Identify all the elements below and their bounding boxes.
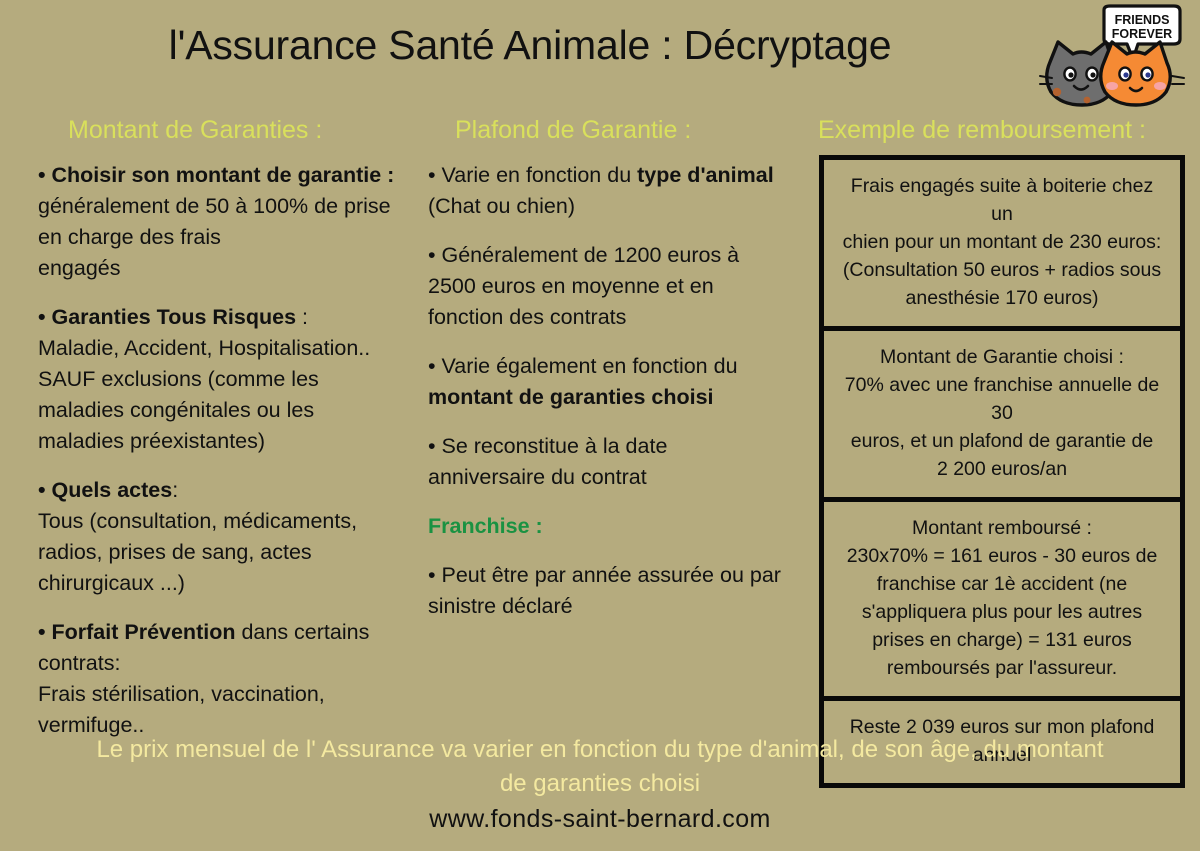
column-montant-garanties: • Choisir son montant de garantie : géné… (38, 160, 420, 741)
bullet-line: Tous (consultation, médicaments, (38, 506, 420, 537)
example-box-line: remboursés par l'assureur. (840, 654, 1164, 682)
bullet-line: anniversaire du contrat (428, 462, 803, 493)
bullet-heading: • Choisir son montant de garantie : (38, 160, 420, 191)
bullet-line: maladies congénitales ou les (38, 395, 420, 426)
example-box-line: chien pour un montant de 230 euros: (840, 228, 1164, 256)
example-box-line: 2 200 euros/an (840, 455, 1164, 483)
bullet-line: Frais stérilisation, vaccination, (38, 679, 420, 710)
bullet-line: maladies préexistantes) (38, 426, 420, 457)
bullet-line: en charge des frais (38, 222, 420, 253)
bullet-heading-bold: • Choisir son montant de garantie : (38, 163, 394, 187)
bullet-line: • Se reconstitue à la date (428, 431, 803, 462)
bullet-heading-bold: • Quels actes (38, 478, 172, 502)
bullet-line: généralement de 50 à 100% de prise (38, 191, 420, 222)
example-box-montant-garantie-choisi: Montant de Garantie choisi : 70% avec un… (824, 331, 1180, 502)
example-box-line: euros, et un plafond de garantie de (840, 427, 1164, 455)
bullet-line: sinistre déclaré (428, 591, 803, 622)
footer-website-url: www.fonds-saint-bernard.com (0, 805, 1200, 834)
page-title: l'Assurance Santé Animale : Décryptage (0, 22, 1060, 69)
bullet-line: (Chat ou chien) (428, 191, 803, 222)
bullet-block: • Forfait Prévention dans certains contr… (38, 617, 420, 741)
example-box-line: franchise car 1è accident (ne (840, 570, 1164, 598)
example-box-line: s'appliquera plus pour les autres (840, 598, 1164, 626)
bullet-line: • Peut être par année assurée ou par (428, 560, 803, 591)
example-box-line: prises en charge) = 131 euros (840, 626, 1164, 654)
footer-note: Le prix mensuel de l' Assurance va varie… (0, 733, 1200, 801)
bullet-line: chirurgicaux ...) (38, 568, 420, 599)
bullet-block: • Varie également en fonction du montant… (428, 351, 803, 413)
bullet-block: • Peut être par année assurée ou par sin… (428, 560, 803, 622)
bullet-heading-bold: • Forfait Prévention (38, 620, 235, 644)
bullet-heading-pre: • Varie en fonction du (428, 163, 637, 187)
example-box-line: Montant de Garantie choisi : (840, 343, 1164, 371)
example-box-line: anesthésie 170 euros) (840, 284, 1164, 312)
bullet-line: fonction des contrats (428, 302, 803, 333)
column-heading-plafond-garantie: Plafond de Garantie : (455, 116, 691, 145)
bullet-line: engagés (38, 253, 420, 284)
cats-logo-icon: FRIENDS FOREVER (1032, 4, 1192, 112)
franchise-subheading-block: Franchise : (428, 511, 803, 542)
footer-note-line-2: de garanties choisi (0, 767, 1200, 801)
friends-forever-cats-logo: FRIENDS FOREVER (1032, 4, 1192, 112)
column-plafond-garantie: • Varie en fonction du type d'animal (Ch… (428, 160, 803, 622)
bullet-line: Maladie, Accident, Hospitalisation.. (38, 333, 420, 364)
bullet-block: • Varie en fonction du type d'animal (Ch… (428, 160, 803, 222)
example-box-line: 230x70% = 161 euros - 30 euros de (840, 542, 1164, 570)
bullet-line: • Varie également en fonction du (428, 351, 803, 382)
bullet-line: 2500 euros en moyenne et en (428, 271, 803, 302)
example-box-line: Montant remboursé : (840, 514, 1164, 542)
bullet-heading: • Garanties Tous Risques : (38, 302, 420, 333)
bullet-line: • Généralement de 1200 euros à (428, 240, 803, 271)
bullet-heading-tail: : (296, 305, 308, 329)
bullet-heading: • Varie en fonction du type d'animal (428, 160, 803, 191)
example-box-frais-engages: Frais engagés suite à boiterie chez un c… (824, 160, 1180, 331)
bullet-block: • Garanties Tous Risques : Maladie, Acci… (38, 302, 420, 457)
bullet-block: • Choisir son montant de garantie : géné… (38, 160, 420, 284)
franchise-subheading: Franchise : (428, 511, 803, 542)
bullet-line: contrats: (38, 648, 420, 679)
example-box-line: 70% avec une franchise annuelle de 30 (840, 371, 1164, 427)
bullet-line-bold: montant de garanties choisi (428, 382, 803, 413)
bubble-line-1: FRIENDS (1115, 13, 1170, 27)
bullet-block: • Quels actes: Tous (consultation, médic… (38, 475, 420, 599)
bullet-heading-tail: : (172, 478, 178, 502)
bullet-line: radios, prises de sang, actes (38, 537, 420, 568)
example-boxes-group: Frais engagés suite à boiterie chez un c… (819, 155, 1185, 788)
bullet-heading-bold: • Garanties Tous Risques (38, 305, 296, 329)
example-box-line: Frais engagés suite à boiterie chez un (840, 172, 1164, 228)
bullet-heading: • Forfait Prévention dans certains (38, 617, 420, 648)
column-heading-montant-garanties: Montant de Garanties : (68, 116, 322, 145)
footer-note-line-1: Le prix mensuel de l' Assurance va varie… (0, 733, 1200, 767)
bullet-heading-bold: type d'animal (637, 163, 774, 187)
example-box-line: (Consultation 50 euros + radios sous (840, 256, 1164, 284)
bullet-block: • Généralement de 1200 euros à 2500 euro… (428, 240, 803, 333)
bullet-block: • Se reconstitue à la date anniversaire … (428, 431, 803, 493)
bullet-line: SAUF exclusions (comme les (38, 364, 420, 395)
example-box-montant-rembourse: Montant remboursé : 230x70% = 161 euros … (824, 502, 1180, 701)
bullet-heading-tail: dans certains (235, 620, 369, 644)
bullet-heading: • Quels actes: (38, 475, 420, 506)
bubble-line-2: FOREVER (1112, 27, 1172, 41)
column-heading-exemple-remboursement: Exemple de remboursement : (818, 116, 1146, 145)
orange-cat-icon (1101, 42, 1184, 105)
